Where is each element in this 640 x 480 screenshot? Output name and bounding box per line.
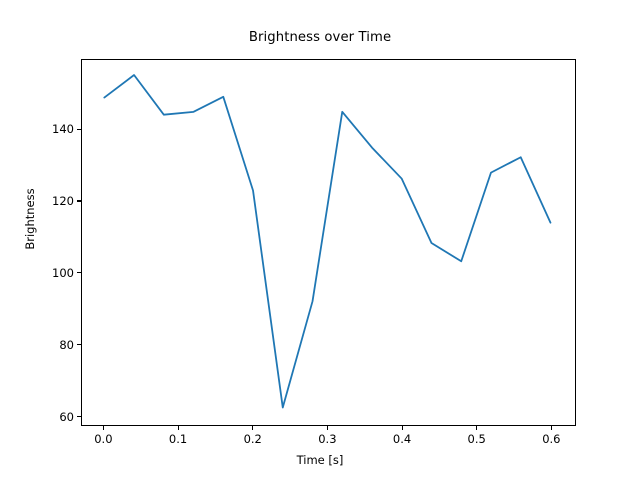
y-axis-label: Brightness <box>23 119 37 319</box>
brightness-line-series <box>104 75 550 407</box>
x-tick-label: 0.1 <box>169 432 187 446</box>
x-tick-label: 0.2 <box>244 432 262 446</box>
matplotlib-figure: Brightness over Time Time [s] Brightness… <box>0 0 640 480</box>
x-tick-mark <box>252 426 253 430</box>
x-tick-label: 0.5 <box>468 432 486 446</box>
y-tick-mark <box>77 344 81 345</box>
y-tick-label: 60 <box>59 410 74 424</box>
plot-axes <box>81 59 576 426</box>
x-tick-label: 0.3 <box>318 432 336 446</box>
y-tick-mark <box>77 129 81 130</box>
y-tick-mark <box>77 200 81 201</box>
x-axis-label: Time [s] <box>0 453 640 467</box>
x-tick-label: 0.0 <box>94 432 112 446</box>
y-tick-label: 80 <box>59 338 74 352</box>
y-tick-label: 140 <box>52 122 74 136</box>
x-tick-mark <box>551 426 552 430</box>
y-tick-label: 100 <box>52 266 74 280</box>
x-tick-label: 0.6 <box>542 432 560 446</box>
chart-title: Brightness over Time <box>0 30 640 45</box>
line-plot-svg <box>82 60 575 425</box>
x-tick-mark <box>402 426 403 430</box>
x-tick-mark <box>327 426 328 430</box>
x-tick-mark <box>476 426 477 430</box>
x-tick-label: 0.4 <box>393 432 411 446</box>
y-tick-mark <box>77 416 81 417</box>
x-tick-mark <box>103 426 104 430</box>
x-tick-mark <box>178 426 179 430</box>
y-tick-mark <box>77 272 81 273</box>
y-tick-label: 120 <box>52 194 74 208</box>
